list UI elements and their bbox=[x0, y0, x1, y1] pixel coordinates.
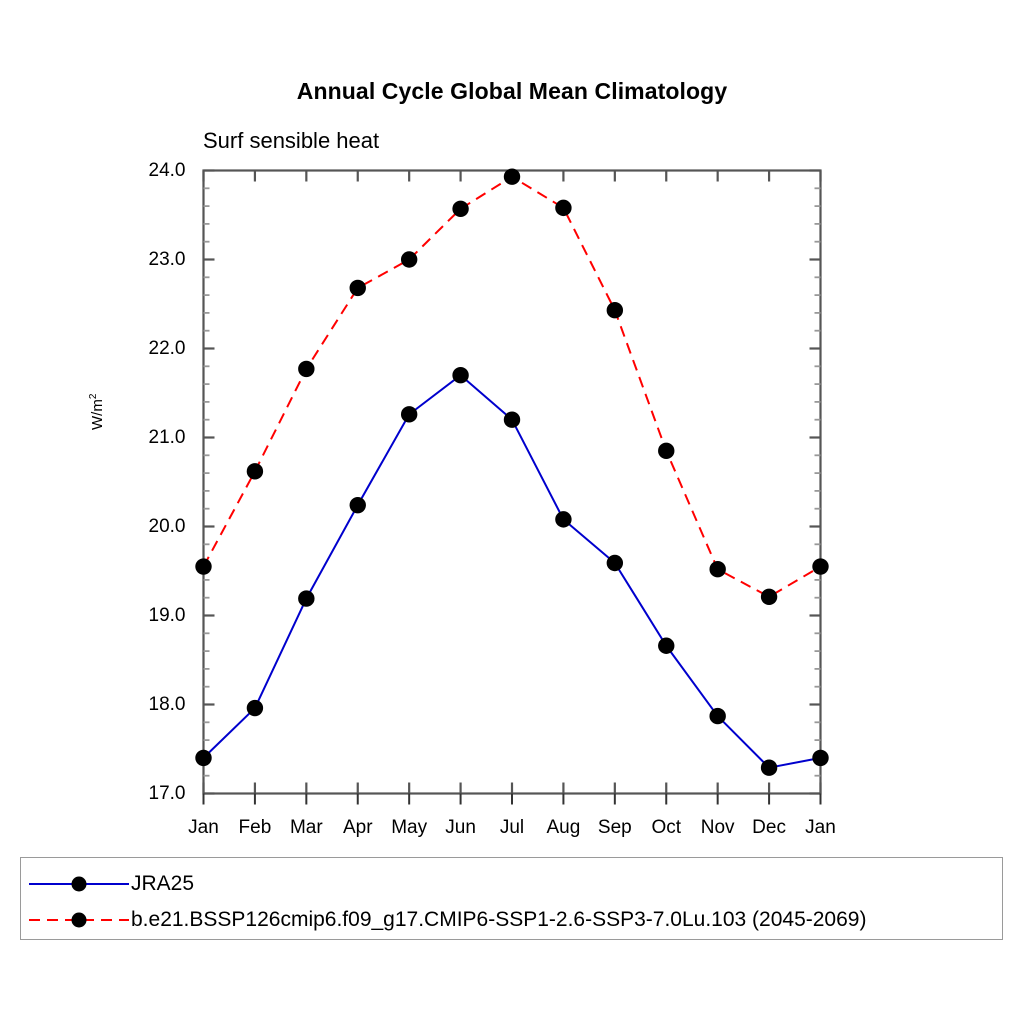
data-series-group bbox=[195, 169, 828, 776]
legend-line-marker-icon bbox=[27, 874, 131, 894]
data-point bbox=[195, 750, 211, 766]
y-axis-tick-label: 23.0 bbox=[116, 250, 186, 269]
data-point bbox=[401, 251, 417, 267]
data-point bbox=[298, 590, 314, 606]
data-point bbox=[709, 561, 725, 577]
data-point bbox=[247, 700, 263, 716]
legend: JRA25b.e21.BSSP126cmip6.f09_g17.CMIP6-SS… bbox=[20, 857, 1003, 940]
legend-item[interactable]: JRA25 bbox=[21, 864, 996, 904]
series-line bbox=[204, 375, 821, 767]
legend-item-label: JRA25 bbox=[131, 872, 194, 896]
data-point bbox=[452, 201, 468, 217]
data-point bbox=[195, 558, 211, 574]
data-point bbox=[658, 638, 674, 654]
legend-line-marker-icon bbox=[27, 910, 131, 930]
series-jra25 bbox=[195, 367, 828, 776]
series-model bbox=[195, 169, 828, 605]
series-line bbox=[204, 177, 821, 597]
chart-page: Annual Cycle Global Mean Climatology Sur… bbox=[0, 0, 1024, 1024]
y-axis-tick-label: 24.0 bbox=[116, 161, 186, 180]
data-point bbox=[504, 169, 520, 185]
data-point bbox=[812, 750, 828, 766]
data-point bbox=[658, 443, 674, 459]
data-point bbox=[350, 497, 366, 513]
data-point bbox=[401, 406, 417, 422]
data-point bbox=[607, 555, 623, 571]
legend-item[interactable]: b.e21.BSSP126cmip6.f09_g17.CMIP6-SSP1-2.… bbox=[21, 900, 996, 940]
data-point bbox=[452, 367, 468, 383]
y-axis-tick-label: 19.0 bbox=[116, 606, 186, 625]
y-axis-tick-label: 20.0 bbox=[116, 517, 186, 536]
y-axis-tick-label: 21.0 bbox=[116, 428, 186, 447]
data-point bbox=[298, 361, 314, 377]
data-point bbox=[504, 412, 520, 428]
data-point bbox=[555, 511, 571, 527]
data-point bbox=[709, 708, 725, 724]
data-point bbox=[812, 558, 828, 574]
legend-item-label: b.e21.BSSP126cmip6.f09_g17.CMIP6-SSP1-2.… bbox=[131, 908, 866, 932]
y-axis-tick-label: 17.0 bbox=[116, 784, 186, 803]
data-point bbox=[761, 759, 777, 775]
axis-ticks bbox=[204, 171, 821, 805]
x-axis-tick-label: Jan bbox=[791, 818, 851, 837]
data-point bbox=[761, 589, 777, 605]
axis-frame bbox=[204, 171, 821, 794]
data-point bbox=[247, 463, 263, 479]
data-point bbox=[555, 200, 571, 216]
y-axis-tick-label: 22.0 bbox=[116, 339, 186, 358]
data-point bbox=[607, 302, 623, 318]
y-axis-tick-label: 18.0 bbox=[116, 695, 186, 714]
data-point bbox=[350, 280, 366, 296]
